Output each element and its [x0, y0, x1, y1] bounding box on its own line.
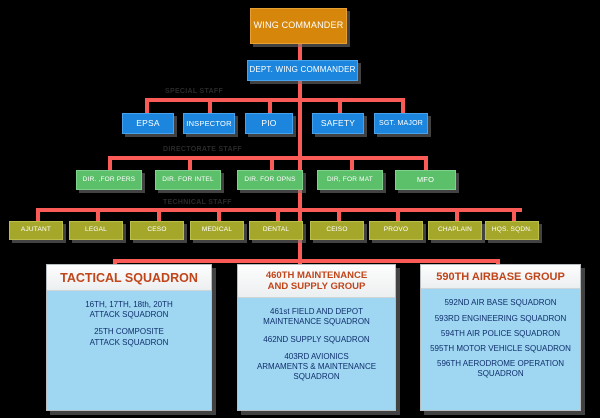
group-panel-maintenance-title: 460TH MAINTENANCE AND SUPPLY GROUP: [238, 265, 395, 298]
node-special-staff-sgt-major-label: SGT. MAJOR: [379, 120, 423, 127]
node-director-opns[interactable]: DIR. FOR OPNS: [237, 170, 303, 190]
node-tech-dental-label: DENTAL: [263, 227, 289, 234]
connector-director-drop-1: [108, 156, 112, 170]
node-tech-provo-label: PROVO: [384, 227, 408, 234]
node-special-staff-safety[interactable]: SAFETY: [312, 113, 364, 134]
group-unit: 403RD AVIONICS ARMAMENTS & MAINTENANCE S…: [243, 352, 390, 383]
connector-tech-drop-9: [512, 208, 516, 221]
node-tech-medical-label: MEDICAL: [202, 227, 232, 234]
group-unit: 592ND AIR BASE SQUADRON: [426, 298, 575, 308]
connector-tech-drop-8: [455, 208, 459, 221]
node-tech-ceso[interactable]: CESO: [130, 221, 184, 240]
connector-groups-bus: [113, 259, 500, 263]
connector-director-drop-2: [188, 156, 192, 170]
group-panel-maintenance-body: 461st FIELD AND DEPOT MAINTENANCE SQUADR…: [238, 298, 395, 388]
org-chart: SPECIAL STAFF DIRECTORATE STAFF TECHNICA…: [0, 0, 600, 418]
node-director-opns-label: DIR. FOR OPNS: [244, 177, 295, 184]
node-tech-dental[interactable]: DENTAL: [249, 221, 303, 240]
node-special-staff-safety-label: SAFETY: [321, 119, 355, 128]
group-panel-airbase[interactable]: 590TH AIRBASE GROUP 592ND AIR BASE SQUAD…: [420, 264, 581, 411]
connector-commander-deputy: [298, 44, 302, 60]
connector-tech-drop-5: [276, 208, 280, 221]
connector-directorate-bus: [108, 156, 426, 160]
group-unit: 462ND SUPPLY SQUADRON: [243, 335, 390, 345]
node-tech-ceso-label: CESO: [147, 227, 166, 234]
connector-tech-drop-1: [36, 208, 40, 221]
node-director-mfo[interactable]: MFO: [395, 170, 456, 190]
node-tech-chaplain-label: CHAPLAIN: [438, 227, 472, 234]
connector-tech-drop-3: [157, 208, 161, 221]
connector-tech-drop-7: [396, 208, 400, 221]
node-wing-commander-label: WING COMMANDER: [254, 21, 344, 30]
group-panel-airbase-body: 592ND AIR BASE SQUADRON 593RD ENGINEERIN…: [421, 289, 580, 390]
node-special-staff-epsa[interactable]: EPSA: [122, 113, 174, 134]
node-special-staff-pio-label: PIO: [261, 119, 276, 128]
node-director-pers-label: DIR. ,FOR PERS: [83, 177, 136, 184]
node-tech-legal-label: LEGAL: [85, 227, 107, 234]
connector-special-drop-3: [268, 98, 272, 113]
group-panel-tactical-title: TACTICAL SQUADRON: [47, 265, 211, 291]
group-panel-tactical-squadron[interactable]: TACTICAL SQUADRON 16TH, 17TH, 18th, 20TH…: [46, 264, 212, 411]
group-panel-airbase-title: 590TH AIRBASE GROUP: [421, 265, 580, 289]
connector-special-drop-2: [208, 98, 212, 113]
node-director-mfo-label: MFO: [417, 176, 434, 184]
connector-director-drop-3: [270, 156, 274, 170]
node-director-mat[interactable]: DIR, FOR MAT: [317, 170, 383, 190]
node-tech-ceiso-label: CEISO: [326, 227, 347, 234]
group-panel-tactical-body: 16TH, 17TH, 18th, 20TH ATTACK SQUADRON 2…: [47, 291, 211, 354]
node-special-staff-epsa-label: EPSA: [136, 119, 159, 128]
node-director-mat-label: DIR, FOR MAT: [327, 177, 373, 184]
node-deputy-wing-commander-label: DEPT. WING COMMANDER: [249, 66, 355, 74]
group-unit: 595TH MOTOR VEHICLE SQUADRON: [426, 344, 575, 354]
node-tech-ajutant-label: AJUTANT: [21, 227, 51, 234]
connector-tech-drop-4: [217, 208, 221, 221]
caption-technical-staff: TECHNICAL STAFF: [163, 199, 232, 206]
node-special-staff-pio[interactable]: PIO: [245, 113, 293, 134]
node-deputy-wing-commander[interactable]: DEPT. WING COMMANDER: [247, 60, 358, 81]
node-wing-commander[interactable]: WING COMMANDER: [250, 8, 347, 44]
connector-director-drop-5: [424, 156, 428, 170]
group-unit: 461st FIELD AND DEPOT MAINTENANCE SQUADR…: [243, 307, 390, 327]
node-special-staff-inspector-label: INSPECTOR: [186, 120, 231, 128]
group-panel-maintenance-supply[interactable]: 460TH MAINTENANCE AND SUPPLY GROUP 461st…: [237, 264, 396, 411]
node-tech-ajutant[interactable]: AJUTANT: [9, 221, 63, 240]
node-tech-medical[interactable]: MEDICAL: [190, 221, 244, 240]
group-unit: 25TH COMPOSITE ATTACK SQUADRON: [52, 327, 206, 347]
node-director-intel-label: DIR. FOR INTEL: [162, 177, 214, 184]
connector-tech-drop-6: [337, 208, 341, 221]
connector-special-drop-4: [338, 98, 342, 113]
connector-special-drop-5: [401, 98, 405, 113]
node-tech-hqs-sqdn-label: HQS. SQDN.: [492, 227, 532, 234]
node-tech-legal[interactable]: LEGAL: [69, 221, 123, 240]
caption-special-staff: SPECIAL STAFF: [165, 88, 223, 95]
connector-director-drop-4: [350, 156, 354, 170]
group-unit: 594TH AIR POLICE SQUADRON: [426, 329, 575, 339]
caption-directorate-staff: DIRECTORATE STAFF: [163, 146, 242, 153]
node-special-staff-inspector[interactable]: INSPECTOR: [183, 113, 235, 134]
node-tech-chaplain[interactable]: CHAPLAIN: [428, 221, 482, 240]
node-director-pers[interactable]: DIR. ,FOR PERS: [76, 170, 142, 190]
group-unit: 596TH AERODROME OPERATION SQUADRON: [426, 359, 575, 379]
node-tech-ceiso[interactable]: CEISO: [310, 221, 364, 240]
node-tech-provo[interactable]: PROVO: [369, 221, 423, 240]
group-unit: 16TH, 17TH, 18th, 20TH ATTACK SQUADRON: [52, 300, 206, 320]
connector-special-drop-1: [145, 98, 149, 113]
connector-tech-drop-2: [96, 208, 100, 221]
node-director-intel[interactable]: DIR. FOR INTEL: [155, 170, 221, 190]
node-special-staff-sgt-major[interactable]: SGT. MAJOR: [374, 113, 428, 134]
node-tech-hqs-sqdn[interactable]: HQS. SQDN.: [485, 221, 539, 240]
connector-special-staff-bus: [145, 98, 405, 102]
group-unit: 593RD ENGINEERING SQUADRON: [426, 314, 575, 324]
